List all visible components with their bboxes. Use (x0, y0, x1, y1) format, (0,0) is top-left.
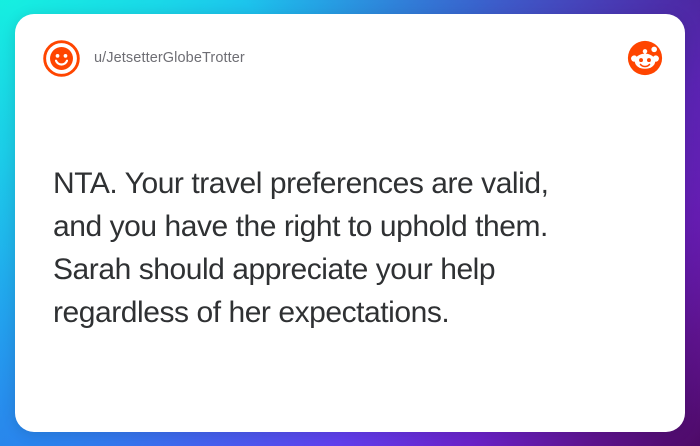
comment-line: Sarah should appreciate your help (53, 248, 655, 291)
comment-line: and you have the right to uphold them. (53, 205, 655, 248)
comment-body: NTA. Your travel preferences are valid, … (53, 162, 655, 334)
reddit-comment-card: u/JetsetterGlobeTrotter (15, 14, 685, 432)
comment-line: NTA. Your travel preferences are valid, (53, 162, 655, 205)
screenshot-root: u/JetsetterGlobeTrotter (0, 0, 700, 446)
reddit-snoo-logo-icon[interactable] (627, 40, 663, 76)
card-header: u/JetsetterGlobeTrotter (15, 14, 685, 102)
smiley-face-avatar-icon[interactable] (43, 40, 80, 77)
comment-line: regardless of her expectations. (53, 291, 655, 334)
username-label: u/JetsetterGlobeTrotter (94, 50, 245, 66)
